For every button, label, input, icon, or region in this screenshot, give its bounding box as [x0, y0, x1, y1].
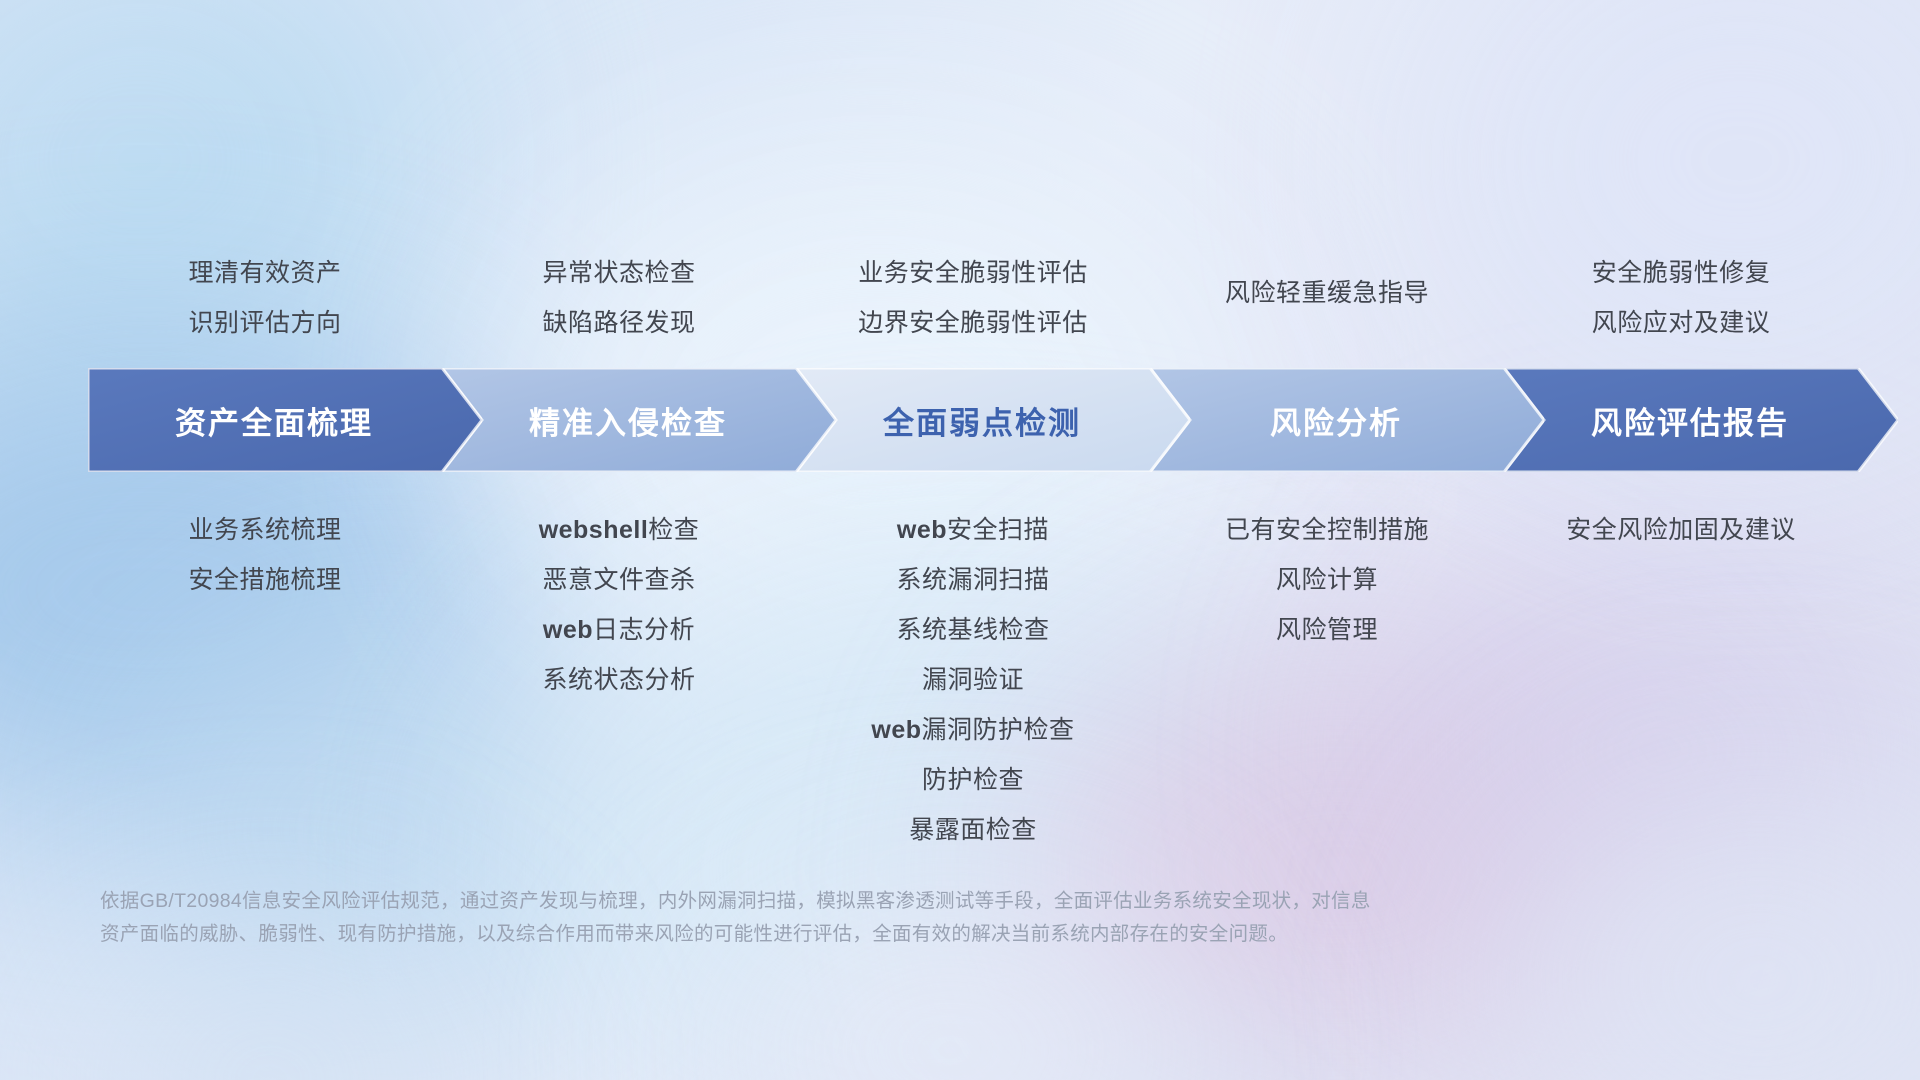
footer-line-2: 资产面临的威胁、脆弱性、现有防护措施，以及综合作用而带来风险的可能性进行评估，全…: [100, 918, 1640, 951]
stage-item-latin: webshell: [539, 516, 649, 544]
stage-bottom-item: 漏洞验证: [673, 655, 1273, 705]
footer-description: 依据GB/T20984信息安全风险评估规范，通过资产发现与梳理，内外网漏洞扫描，…: [100, 885, 1640, 951]
stage-bottom-item: 防护检查: [673, 755, 1273, 805]
stage-item-cjk: 安全风险加固及建议: [1566, 516, 1796, 544]
stage-chevron-risk-analysis[interactable]: 风险分析: [1150, 368, 1544, 472]
stage-item-cjk: 漏洞防护检查: [922, 716, 1075, 744]
stage-item-cjk: 漏洞验证: [922, 666, 1024, 694]
stage-title: 全面弱点检测: [883, 398, 1081, 443]
stage-item-cjk: 防护检查: [922, 766, 1024, 794]
stage-item-latin: web: [543, 616, 593, 644]
chevron-label-wrap: 精准入侵检查: [442, 368, 836, 472]
stage-chevron-band: 资产全面梳理精准入侵检查全面弱点检测风险分析风险评估报告: [0, 368, 1920, 472]
stage-bottom-item: 风险计算: [1027, 555, 1627, 605]
stage-title: 资产全面梳理: [175, 398, 373, 443]
stage-chevron-weakness-detection[interactable]: 全面弱点检测: [796, 368, 1190, 472]
stage-bottom-items-assessment-report: 安全风险加固及建议: [1381, 505, 1920, 555]
stage-item-latin: web: [897, 516, 947, 544]
stage-top-items-assessment-report: 安全脆弱性修复风险应对及建议: [1381, 248, 1920, 348]
chevron-label-wrap: 风险分析: [1150, 368, 1544, 472]
stage-chevron-intrusion-check[interactable]: 精准入侵检查: [442, 368, 836, 472]
stage-bottom-item: 暴露面检查: [673, 805, 1273, 855]
stage-item-cjk: 风险管理: [1276, 616, 1378, 644]
stage-item-cjk: 风险计算: [1276, 566, 1378, 594]
stage-top-item: 风险应对及建议: [1381, 298, 1920, 348]
process-diagram: 理清有效资产识别评估方向异常状态检查缺陷路径发现业务安全脆弱性评估边界安全脆弱性…: [0, 0, 1920, 1080]
stage-chevron-asset-inventory[interactable]: 资产全面梳理: [88, 368, 482, 472]
chevron-label-wrap: 资产全面梳理: [88, 368, 482, 472]
stage-chevron-assessment-report[interactable]: 风险评估报告: [1504, 368, 1898, 472]
footer-line-1: 依据GB/T20984信息安全风险评估规范，通过资产发现与梳理，内外网漏洞扫描，…: [100, 885, 1640, 918]
chevron-label-wrap: 全面弱点检测: [796, 368, 1190, 472]
stage-title: 风险评估报告: [1591, 398, 1789, 443]
chevron-label-wrap: 风险评估报告: [1504, 368, 1898, 472]
stage-top-item: 安全脆弱性修复: [1381, 248, 1920, 298]
stage-item-latin: web: [871, 716, 921, 744]
stage-bottom-item: 风险管理: [1027, 605, 1627, 655]
stage-title: 风险分析: [1270, 398, 1402, 443]
stage-bottom-item: web漏洞防护检查: [673, 705, 1273, 755]
stage-bottom-item: 安全风险加固及建议: [1381, 505, 1920, 555]
stage-title: 精准入侵检查: [529, 398, 727, 443]
stage-item-cjk: 暴露面检查: [909, 816, 1037, 844]
